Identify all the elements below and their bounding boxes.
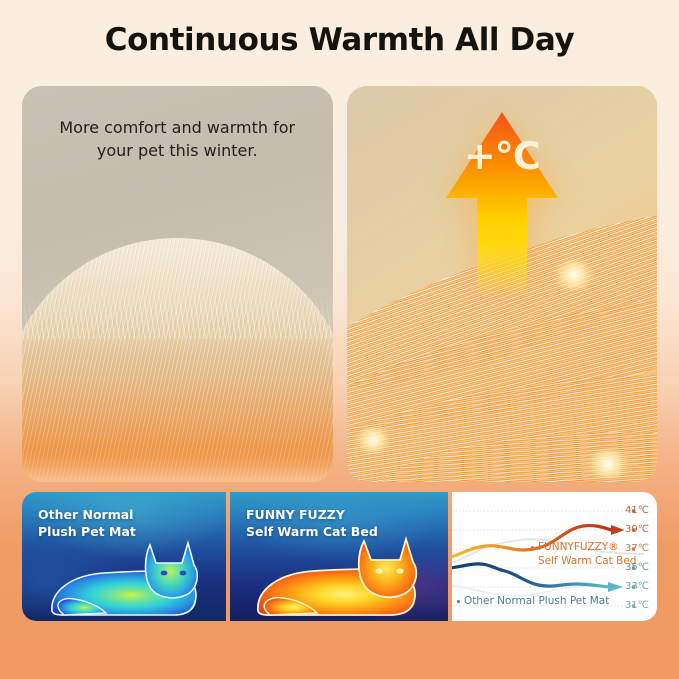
product-infographic: Continuous Warmth All Day More comfort a… [0,0,679,679]
legend-dot-other-icon [457,600,460,603]
thermal-label-ff-line-1: FUNNY FUZZY [246,506,378,523]
chart-tick-33: 33℃ [625,581,649,592]
thermal-comparison-row: Other Normal Plush Pet Mat [22,492,657,621]
chart-tick-41: 41℃ [625,505,649,516]
fur-fringe-texture [22,205,333,340]
thermal-label-other-mat: Other Normal Plush Pet Mat [38,506,136,541]
thermal-panel-other-mat: Other Normal Plush Pet Mat [22,492,226,621]
thermal-label-ff-line-2: Self Warm Cat Bed [246,523,378,540]
chart-legend-other-mat: Other Normal Plush Pet Mat [457,595,609,607]
fur-photo-panel: More comfort and warmth for your pet thi… [22,86,333,482]
chart-arrowhead-warm [611,525,625,535]
chart-tick-39: 39℃ [625,524,649,535]
fiber-glow [353,427,393,453]
arrow-degree-label: +℃ [464,134,540,178]
fur-caption-line-1: More comfort and warmth for [46,116,309,139]
thermal-cat-warm-icon [250,527,434,621]
legend-dot-funnyfuzzy-icon [531,546,534,549]
thermal-label-other-line-1: Other Normal [38,506,136,523]
thermal-label-other-line-2: Plush Pet Mat [38,523,136,540]
chart-legend-funnyfuzzy: FUNNYFUZZY® Self Warm Cat Bed [531,540,636,568]
fur-caption: More comfort and warmth for your pet thi… [22,116,333,162]
chart-legend-other-text: Other Normal Plush Pet Mat [464,595,609,607]
thermal-panel-funnyfuzzy-bed: FUNNY FUZZY Self Warm Cat Bed [230,492,448,621]
top-panels-row: More comfort and warmth for your pet thi… [22,86,657,482]
thermal-label-funnyfuzzy: FUNNY FUZZY Self Warm Cat Bed [246,506,378,541]
page-title: Continuous Warmth All Day [0,22,679,58]
chart-tick-31: 31℃ [625,600,649,611]
thermal-cat-cold-icon [44,531,214,621]
fur-caption-line-2: your pet this winter. [46,139,309,162]
chart-legend-ff-line-1: FUNNYFUZZY® [538,541,619,553]
heating-fiber-panel: +℃ [347,86,658,482]
chart-legend-ff-line-2: Self Warm Cat Bed [538,555,636,567]
chart-arrowhead-cool [608,582,623,592]
temperature-chart-panel: 41℃ 39℃ 37℃ 35℃ 33℃ 31℃ FUNNYFUZZY® Self… [452,492,657,621]
